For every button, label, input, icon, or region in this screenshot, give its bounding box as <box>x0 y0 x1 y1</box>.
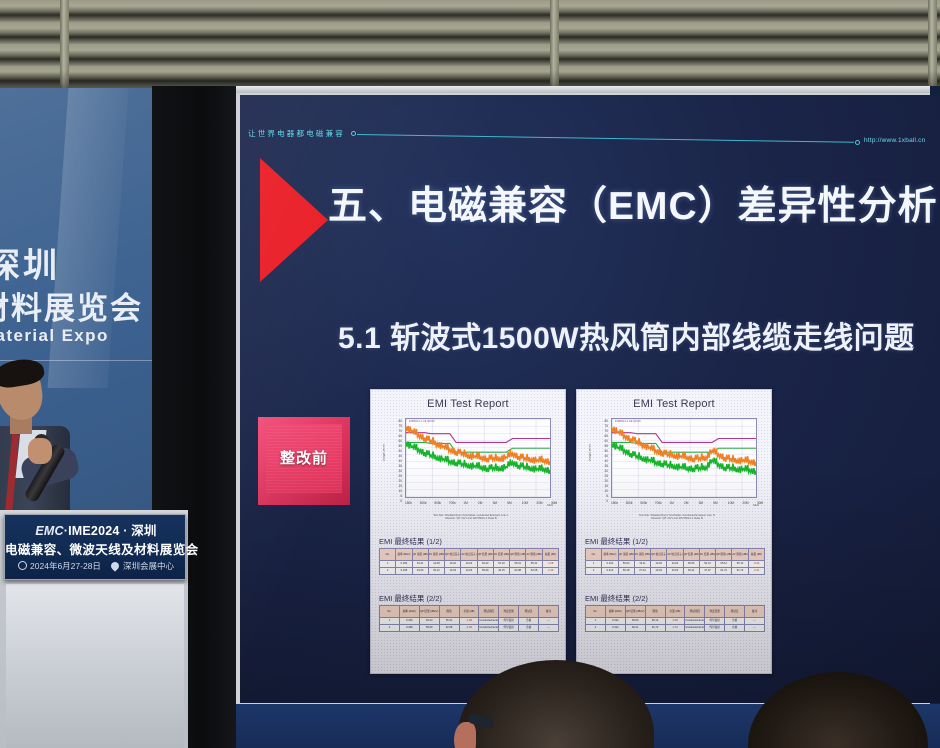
table-cell: 合格 <box>725 625 745 632</box>
y-tick: 20 <box>398 480 402 483</box>
y-tick: 0 <box>400 500 402 503</box>
column-header: QP 限值 (dBuV) <box>716 549 732 561</box>
column-header: 测试项目 <box>685 606 705 618</box>
table-cell: Conducted Emission L <box>685 618 705 625</box>
y-tick: 5 <box>400 495 402 498</box>
column-header: No. <box>586 606 606 618</box>
table-cell: 60.21 <box>683 568 699 575</box>
table-cell: 传导发射 <box>705 618 725 625</box>
x-axis-ticks: 150k300k500k700k1M2M3M5M10M20M30M <box>611 499 757 511</box>
x-tick: 5M <box>713 501 717 505</box>
chart-series-paths <box>406 419 550 497</box>
column-header: 备注 <box>539 606 559 618</box>
table-cell: 2 <box>586 625 606 632</box>
table-cell: 42.11 <box>634 561 650 568</box>
table-cell: 60.21 <box>625 625 645 632</box>
table-cell: 59.69 <box>419 625 439 632</box>
x-tick: 2M <box>684 501 688 505</box>
column-header: AV 读值 (dBuV) <box>634 549 650 561</box>
lectern-event-subtitle: 电磁兼容、微波天线及材料展览会 <box>5 539 187 558</box>
table-cell: -1.08 <box>459 618 479 625</box>
y-tick: 35 <box>398 465 402 468</box>
table-cell: 59.69 <box>477 568 493 575</box>
table-cell: 47.07 <box>699 568 715 575</box>
banner-city-text: 深圳 <box>0 238 60 287</box>
x-tick: 300k <box>420 501 427 505</box>
table-cell: — <box>539 618 559 625</box>
x-tick: 1M <box>463 501 467 505</box>
y-tick: 65 <box>604 435 608 438</box>
y-tick: 30 <box>398 470 402 473</box>
emi-report-panel-right: EMI Test Report Level (dBuV) 80757065605… <box>576 389 772 674</box>
table-row: 10.18664.2365.31-1.08Conducted Emission … <box>380 618 559 625</box>
table-cell: 50.18 <box>618 568 634 575</box>
y-tick: 75 <box>398 425 402 428</box>
x-tick: 2M <box>478 501 482 505</box>
event-title-rest: ·IME2024 · 深圳 <box>64 524 157 538</box>
chart-plot-area: EN55014-1 CE QP/AV <box>405 418 551 498</box>
slide-website-url: http://www.1xball.cn <box>864 137 925 144</box>
table-cell: 64.23 <box>477 561 493 568</box>
y-tick: 20 <box>604 480 608 483</box>
y-tick: 30 <box>604 470 608 473</box>
table-cell: 46.15 <box>493 568 509 575</box>
emi-results-table-1: No.频率 (MHz)QP 读值 (dBuV)AV 读值 (dBuV)QP 校正… <box>585 548 765 575</box>
chart-series-paths <box>612 419 756 497</box>
lectern-signage: EMC·IME2024 · 深圳 电磁兼容、微波天线及材料展览会 2024年6月… <box>4 514 186 580</box>
x-tick: 10M <box>728 501 734 505</box>
x-axis-ticks: 150k300k500k700k1M2M3M5M10M20M30M <box>405 499 551 511</box>
footnote-line-2: Detector: QP / AV Limit: EN 55014-1 Clas… <box>385 517 557 520</box>
column-header: 频率 (MHz) <box>602 549 618 561</box>
column-header: QP 读值 (dBuV) <box>412 549 428 561</box>
projection-screen-top-rail <box>236 86 940 93</box>
column-header: 限值 <box>439 606 459 618</box>
table-cell: 64.23 <box>419 618 439 625</box>
table-cell: 65.12 <box>716 561 732 568</box>
table-cell: 0.312 <box>602 568 618 575</box>
y-tick: 75 <box>604 425 608 428</box>
table-cell: 传导发射 <box>499 618 519 625</box>
y-tick: 25 <box>398 475 402 478</box>
column-header: 判定结果 <box>705 606 725 618</box>
table-cell: 37.04 <box>634 568 650 575</box>
table-cell: 10.02 <box>461 561 477 568</box>
column-header: QP 结果 (dBuV) <box>625 606 645 618</box>
table-header-row: No.频率 (MHz)QP 读值 (dBuV)AV 读值 (dBuV)QP 校正… <box>380 549 559 561</box>
chart-footnotes: Test Site: Shielded Room Test Mode: Cond… <box>385 514 557 528</box>
table-cell: — <box>539 625 559 632</box>
table-cell: 0.192 <box>605 618 625 625</box>
y-tick: 65 <box>398 435 402 438</box>
table-row: 20.31260.2161.72-1.51Conducted Emission … <box>586 625 765 632</box>
column-header: 测试员 <box>519 606 539 618</box>
column-header: 限值 <box>645 606 665 618</box>
y-tick: 50 <box>604 450 608 453</box>
badge-label: 整改前 <box>258 447 350 468</box>
y-tick: 10 <box>604 490 608 493</box>
table-cell: 合格 <box>519 618 539 625</box>
table-cell: 65.31 <box>439 618 459 625</box>
x-tick: 150k <box>405 501 412 505</box>
table-cell: -1.51 <box>665 625 685 632</box>
table-cell: 1 <box>380 618 400 625</box>
table-cell: 0.312 <box>605 625 625 632</box>
table-cell: 61.72 <box>645 625 665 632</box>
x-tick: 20M <box>536 501 542 505</box>
x-tick: 500k <box>434 501 441 505</box>
table-cell: 55.04 <box>618 561 634 568</box>
table-cell: 合格 <box>725 618 745 625</box>
table-cell: 0.192 <box>602 561 618 568</box>
column-header: 裕量 (dB) <box>748 549 764 561</box>
table-cell: 10.02 <box>651 561 667 568</box>
before-modification-badge: 整改前 <box>258 417 350 505</box>
y-tick: 80 <box>398 420 402 423</box>
table-row: 10.18654.2141.0810.0210.0264.2351.1065.3… <box>380 561 559 568</box>
emi-results-table-2: No.频率 (MHz)QP 结果 (dBuV)限值余量 (dB)测试项目判定结果… <box>379 605 559 632</box>
table-cell: Conducted Emission N <box>479 625 499 632</box>
y-tick: 40 <box>604 460 608 463</box>
column-header: 裕量 (dB) <box>542 549 558 561</box>
column-header: AV 结果 (dBuV) <box>699 549 715 561</box>
y-tick: 70 <box>398 430 402 433</box>
photo-of-conference-presentation: 深圳 材料展览会 Material Expo 展中心 EMC·IME2024 ·… <box>0 0 940 748</box>
emi-report-panel-left: EMI Test Report Level (dBuV) 80757065605… <box>370 389 566 674</box>
column-header: 频率 (MHz) <box>396 549 412 561</box>
table-row: 20.29849.6636.1210.0310.0359.6946.1562.0… <box>380 568 559 575</box>
table-cell: 10.03 <box>445 568 461 575</box>
x-tick: 700k <box>449 501 456 505</box>
table-cell: -0.06 <box>748 561 764 568</box>
emi-chart-right: Level (dBuV) 807570656055504540353025201… <box>589 416 761 512</box>
emi-chart-left: Level (dBuV) 807570656055504540353025201… <box>383 416 555 512</box>
table-cell: 10.02 <box>445 561 461 568</box>
series-qp-measured <box>406 426 550 465</box>
column-header: 测试员 <box>725 606 745 618</box>
table-cell: 62.08 <box>439 625 459 632</box>
y-tick: 40 <box>398 460 402 463</box>
column-header: No. <box>380 606 400 618</box>
table-header-row: No.频率 (MHz)QP 结果 (dBuV)限值余量 (dB)测试项目判定结果… <box>380 606 559 618</box>
chart-title: EMI Test Report <box>371 398 565 410</box>
x-tick: 700k <box>655 501 662 505</box>
column-header: QP 读值 (dBuV) <box>618 549 634 561</box>
table-header-row: No.频率 (MHz)QP 结果 (dBuV)限值余量 (dB)测试项目判定结果… <box>586 606 765 618</box>
audience-head-right <box>748 672 928 748</box>
x-tick: 3M <box>699 501 703 505</box>
table-cell: -1.51 <box>748 568 764 575</box>
column-header: QP 限值 (dBuV) <box>510 549 526 561</box>
column-header: 判定结果 <box>499 606 519 618</box>
x-axis-unit: MHz <box>547 503 553 507</box>
lectern-event-meta: 2024年6月27-28日深圳会展中心 <box>5 560 187 572</box>
table-cell: 0.298 <box>396 568 412 575</box>
emi-results-table-1: No.频率 (MHz)QP 读值 (dBuV)AV 读值 (dBuV)QP 校正… <box>379 548 559 575</box>
column-header: AV 校正因子 (dB) <box>461 549 477 561</box>
y-tick: 55 <box>398 445 402 448</box>
table-cell: 65.31 <box>510 561 526 568</box>
footnote-line-2: Detector: QP / AV Limit: EN 55014-1 Clas… <box>591 517 763 520</box>
kicker-rule-line <box>357 134 854 143</box>
red-triangle-bullet-icon <box>260 158 328 282</box>
x-tick: 1M <box>669 501 673 505</box>
table-caption-1: EMI 最终结果 (1/2) <box>379 536 442 547</box>
table-cell: 1 <box>586 618 606 625</box>
y-tick: 60 <box>398 440 402 443</box>
table-cell: 36.12 <box>428 568 444 575</box>
column-header: 余量 (dB) <box>459 606 479 618</box>
table-cell: 65.12 <box>645 618 665 625</box>
table-cell: 传导发射 <box>499 625 519 632</box>
series-av-limit <box>612 442 756 452</box>
slide-title: 五、电磁兼容（EMC）差异性分析 <box>328 175 938 231</box>
presenter-hand <box>28 438 52 464</box>
column-header: QP 结果 (dBuV) <box>683 549 699 561</box>
table-cell: Conducted Emission N <box>685 625 705 632</box>
table-cell: 49.66 <box>412 568 428 575</box>
lectern-front-panel <box>6 584 184 748</box>
table-cell: 61.72 <box>716 568 732 575</box>
audience-head-left <box>458 660 654 748</box>
table-caption-1: EMI 最终结果 (1/2) <box>585 536 648 547</box>
column-header: 测试项目 <box>479 606 499 618</box>
y-axis-ticks: 80757065605550454035302520151050 <box>589 420 609 500</box>
event-brand: EMC <box>35 524 63 538</box>
audience-ear <box>454 722 476 748</box>
slide-subtitle: 5.1 斩波式1500W热风筒内部线缆走线问题 <box>338 313 915 357</box>
table-cell: 1 <box>586 561 602 568</box>
table-cell: 2 <box>380 568 396 575</box>
table-cell: 10.03 <box>461 568 477 575</box>
x-axis-unit: MHz <box>753 503 759 507</box>
table-cell: 2 <box>380 625 400 632</box>
table-cell: Conducted Emission L <box>479 618 499 625</box>
column-header: 备注 <box>745 606 765 618</box>
table-cell: 52.08 <box>526 568 542 575</box>
table-cell: 0.298 <box>399 625 419 632</box>
column-header: QP 结果 (dBuV) <box>477 549 493 561</box>
chart-footnotes: Test Site: Shielded Room Test Mode: Cond… <box>591 514 763 528</box>
table-cell: 55.12 <box>732 561 748 568</box>
y-tick: 5 <box>606 495 608 498</box>
table-row: 20.31250.1837.0410.0310.0360.2147.0761.7… <box>586 568 765 575</box>
location-pin-icon <box>109 560 120 571</box>
y-tick: 15 <box>398 485 402 488</box>
y-tick: 80 <box>604 420 608 423</box>
table-cell: 0.186 <box>396 561 412 568</box>
audience-hair <box>458 660 654 748</box>
y-tick: 10 <box>398 490 402 493</box>
clock-icon <box>18 561 27 570</box>
column-header: AV 读值 (dBuV) <box>428 549 444 561</box>
table-cell: -2.39 <box>459 625 479 632</box>
table-cell: 41.08 <box>428 561 444 568</box>
table-cell: 10.02 <box>667 561 683 568</box>
table-cell: — <box>745 618 765 625</box>
table-cell: -2.39 <box>542 568 558 575</box>
event-date: 2024年6月27-28日 <box>30 561 101 571</box>
column-header: 频率 (MHz) <box>399 606 419 618</box>
table-cell: 51.72 <box>732 568 748 575</box>
emi-results-table-2: No.频率 (MHz)QP 结果 (dBuV)限值余量 (dB)测试项目判定结果… <box>585 605 765 632</box>
x-tick: 10M <box>522 501 528 505</box>
table-cell: 0.186 <box>399 618 419 625</box>
table-caption-2: EMI 最终结果 (2/2) <box>379 593 442 604</box>
chart-title: EMI Test Report <box>577 398 771 410</box>
column-header: 余量 (dB) <box>665 606 685 618</box>
table-cell: 1 <box>380 561 396 568</box>
table-cell: 65.06 <box>683 561 699 568</box>
table-cell: -0.06 <box>665 618 685 625</box>
y-tick: 45 <box>398 455 402 458</box>
column-header: AV 限值 (dBuV) <box>526 549 542 561</box>
kicker-dot-marker <box>351 131 356 136</box>
y-tick: 0 <box>606 500 608 503</box>
table-cell: 2 <box>586 568 602 575</box>
table-cell: 10.03 <box>651 568 667 575</box>
x-tick: 300k <box>626 501 633 505</box>
table-caption-2: EMI 最终结果 (2/2) <box>585 593 648 604</box>
y-tick: 45 <box>604 455 608 458</box>
table-cell: 55.31 <box>526 561 542 568</box>
y-axis-ticks: 80757065605550454035302520151050 <box>383 420 403 500</box>
lectern-event-title: EMC·IME2024 · 深圳 <box>5 520 187 539</box>
table-cell: -1.08 <box>542 561 558 568</box>
table-cell: 合格 <box>519 625 539 632</box>
x-tick: 500k <box>640 501 647 505</box>
y-tick: 70 <box>604 430 608 433</box>
y-tick: 50 <box>398 450 402 453</box>
audience-hair <box>748 672 928 748</box>
column-header: AV 结果 (dBuV) <box>493 549 509 561</box>
table-cell: 传导发射 <box>705 625 725 632</box>
column-header: AV 限值 (dBuV) <box>732 549 748 561</box>
column-header: AV 校正因子 (dB) <box>667 549 683 561</box>
x-tick: 20M <box>742 501 748 505</box>
table-cell: 10.03 <box>667 568 683 575</box>
column-header: No. <box>380 549 396 561</box>
chart-plot-area: EN55014-1 CE QP/AV <box>611 418 757 498</box>
y-tick: 55 <box>604 445 608 448</box>
banner-title-text: 材料展览会 <box>0 283 143 328</box>
column-header: QP 校正因子 (dB) <box>445 549 461 561</box>
column-header: 频率 (MHz) <box>605 606 625 618</box>
table-row: 10.19265.0665.12-0.06Conducted Emission … <box>586 618 765 625</box>
table-cell: 52.13 <box>699 561 715 568</box>
x-tick: 150k <box>611 501 618 505</box>
table-row: 10.19255.0442.1110.0210.0265.0652.1365.1… <box>586 561 765 568</box>
event-place: 深圳会展中心 <box>123 561 174 571</box>
table-row: 20.29859.6962.08-2.39Conducted Emission … <box>380 625 559 632</box>
table-header-row: No.频率 (MHz)QP 读值 (dBuV)AV 读值 (dBuV)QP 校正… <box>586 549 765 561</box>
presentation-slide: 让世界电器都电磁兼容 http://www.1xball.cn 五、电磁兼容（E… <box>240 95 940 703</box>
x-tick: 3M <box>493 501 497 505</box>
table-cell: 51.10 <box>493 561 509 568</box>
url-dot-marker <box>855 140 860 145</box>
table-cell: 62.08 <box>510 568 526 575</box>
y-tick: 15 <box>604 485 608 488</box>
x-tick: 5M <box>507 501 511 505</box>
column-header: QP 结果 (dBuV) <box>419 606 439 618</box>
column-header: QP 校正因子 (dB) <box>651 549 667 561</box>
table-cell: 65.06 <box>625 618 645 625</box>
slide-kicker-text: 让世界电器都电磁兼容 <box>248 128 345 139</box>
table-cell: 54.21 <box>412 561 428 568</box>
y-tick: 35 <box>604 465 608 468</box>
table-cell: — <box>745 625 765 632</box>
column-header: No. <box>586 549 602 561</box>
banner-english-text: Material Expo <box>0 326 109 346</box>
y-tick: 60 <box>604 440 608 443</box>
y-tick: 25 <box>604 475 608 478</box>
